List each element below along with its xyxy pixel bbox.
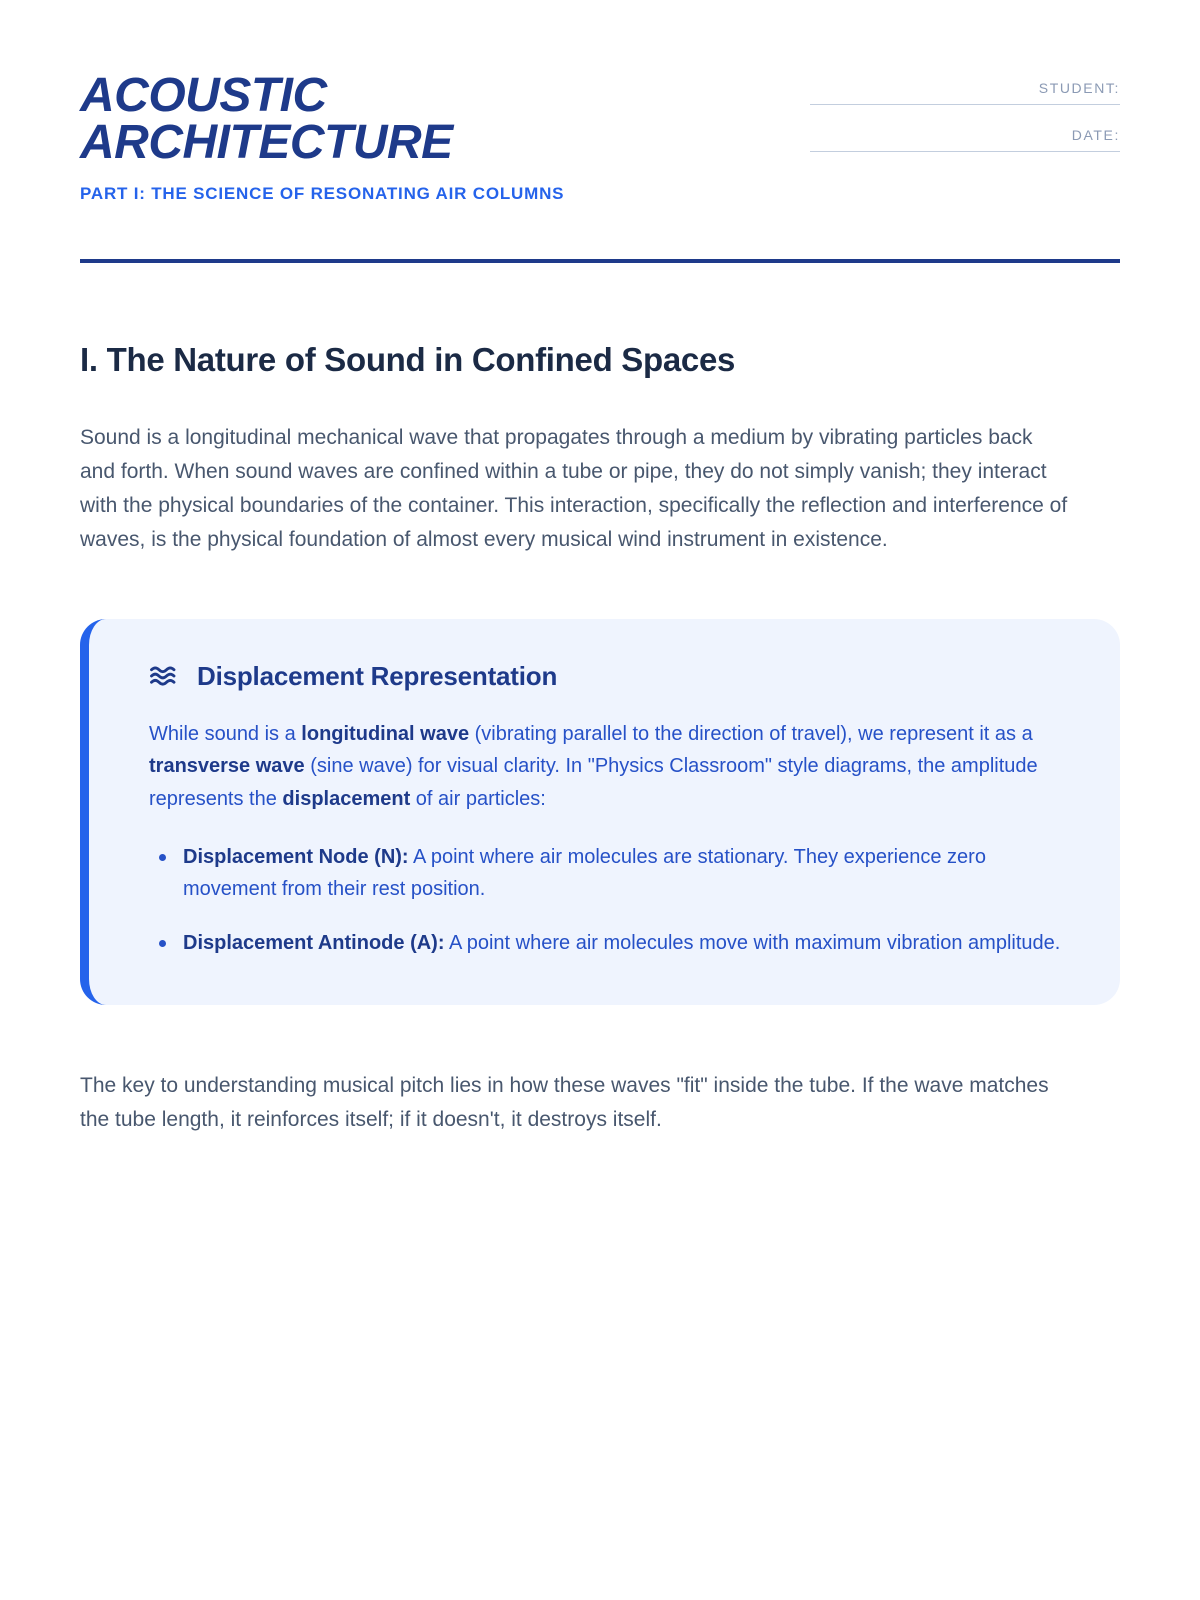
callout-text-part-2: (vibrating parallel to the direction of … [469, 723, 1033, 745]
callout-paragraph: While sound is a longitudinal wave (vibr… [149, 718, 1070, 815]
callout-bold-longitudinal-wave: longitudinal wave [301, 723, 469, 745]
callout-text-part-1: While sound is a [149, 723, 301, 745]
page-title-line-2: ARCHITECTURE [80, 119, 564, 166]
date-field[interactable]: DATE: [810, 127, 1120, 152]
callout-definition-list: Displacement Node (N): A point where air… [149, 841, 1070, 959]
list-item-term: Displacement Antinode (A): [183, 932, 445, 954]
page-subtitle: PART I: THE SCIENCE OF RESONATING AIR CO… [80, 182, 564, 207]
header-divider [80, 259, 1120, 263]
date-label: DATE: [810, 127, 1120, 151]
list-item: Displacement Node (N): A point where air… [183, 841, 1070, 905]
callout-header: Displacement Representation [149, 661, 1070, 692]
brand-block: ACOUSTIC ARCHITECTURE PART I: THE SCIENC… [80, 72, 564, 207]
callout-box: Displacement Representation While sound … [80, 619, 1120, 1005]
callout-bold-transverse-wave: transverse wave [149, 755, 305, 777]
closing-paragraph: The key to understanding musical pitch l… [80, 1069, 1060, 1137]
student-write-line[interactable] [810, 104, 1120, 105]
date-write-line[interactable] [810, 151, 1120, 152]
wave-icon [149, 661, 179, 691]
page-title-line-1: ACOUSTIC [80, 72, 564, 119]
list-item-description: A point where air molecules move with ma… [445, 932, 1061, 954]
list-item: Displacement Antinode (A): A point where… [183, 927, 1070, 959]
intro-paragraph: Sound is a longitudinal mechanical wave … [80, 421, 1070, 557]
callout-bold-displacement: displacement [282, 788, 410, 810]
callout-title: Displacement Representation [197, 661, 557, 692]
document-page: ACOUSTIC ARCHITECTURE PART I: THE SCIENC… [0, 0, 1200, 1600]
document-masthead: ACOUSTIC ARCHITECTURE PART I: THE SCIENC… [80, 0, 1120, 207]
callout-text-part-4: of air particles: [410, 788, 546, 810]
meta-fields: STUDENT: DATE: [810, 72, 1120, 152]
student-field[interactable]: STUDENT: [810, 80, 1120, 105]
student-label: STUDENT: [810, 80, 1120, 104]
page-title: ACOUSTIC ARCHITECTURE [80, 72, 564, 166]
section-heading: I. The Nature of Sound in Confined Space… [80, 341, 1120, 379]
list-item-term: Displacement Node (N): [183, 846, 409, 868]
